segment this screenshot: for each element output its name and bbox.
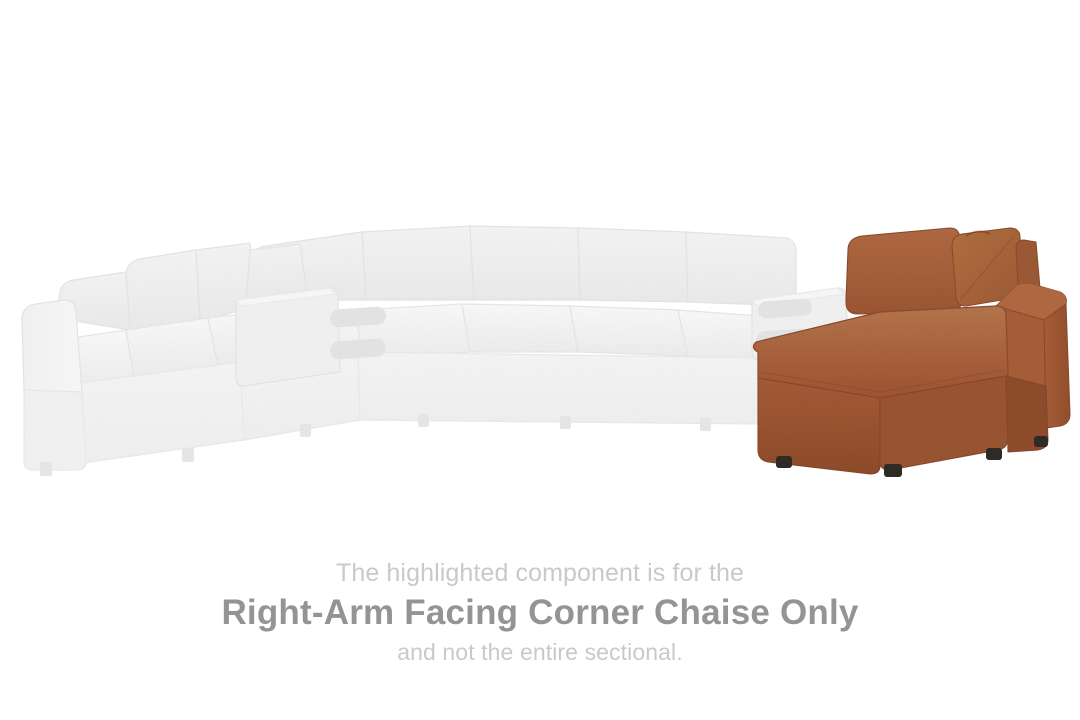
caption-line-3: and not the entire sectional. <box>0 636 1080 668</box>
ghosted-seat-cushion-row <box>356 304 770 360</box>
ghosted-rear-base <box>352 352 772 424</box>
product-image-canvas: The highlighted component is for the Rig… <box>0 0 1080 720</box>
highlighted-raf-corner-chaise <box>753 228 1070 477</box>
caption-line-2-component-name: Right-Arm Facing Corner Chaise Only <box>0 590 1080 636</box>
ghosted-sectional-group <box>22 226 848 476</box>
chaise-right-arm-outer <box>1044 304 1070 428</box>
sofa-vector-artwork <box>0 0 1080 540</box>
sectional-sofa-illustration <box>0 0 1080 540</box>
ghosted-left-arm-front <box>24 390 86 470</box>
caption-block: The highlighted component is for the Rig… <box>0 556 1080 668</box>
chaise-rear-cushion-sliver <box>1016 240 1040 288</box>
chaise-back-cushion <box>846 228 962 314</box>
ghosted-left-arm <box>22 300 82 400</box>
caption-line-1: The highlighted component is for the <box>0 556 1080 590</box>
